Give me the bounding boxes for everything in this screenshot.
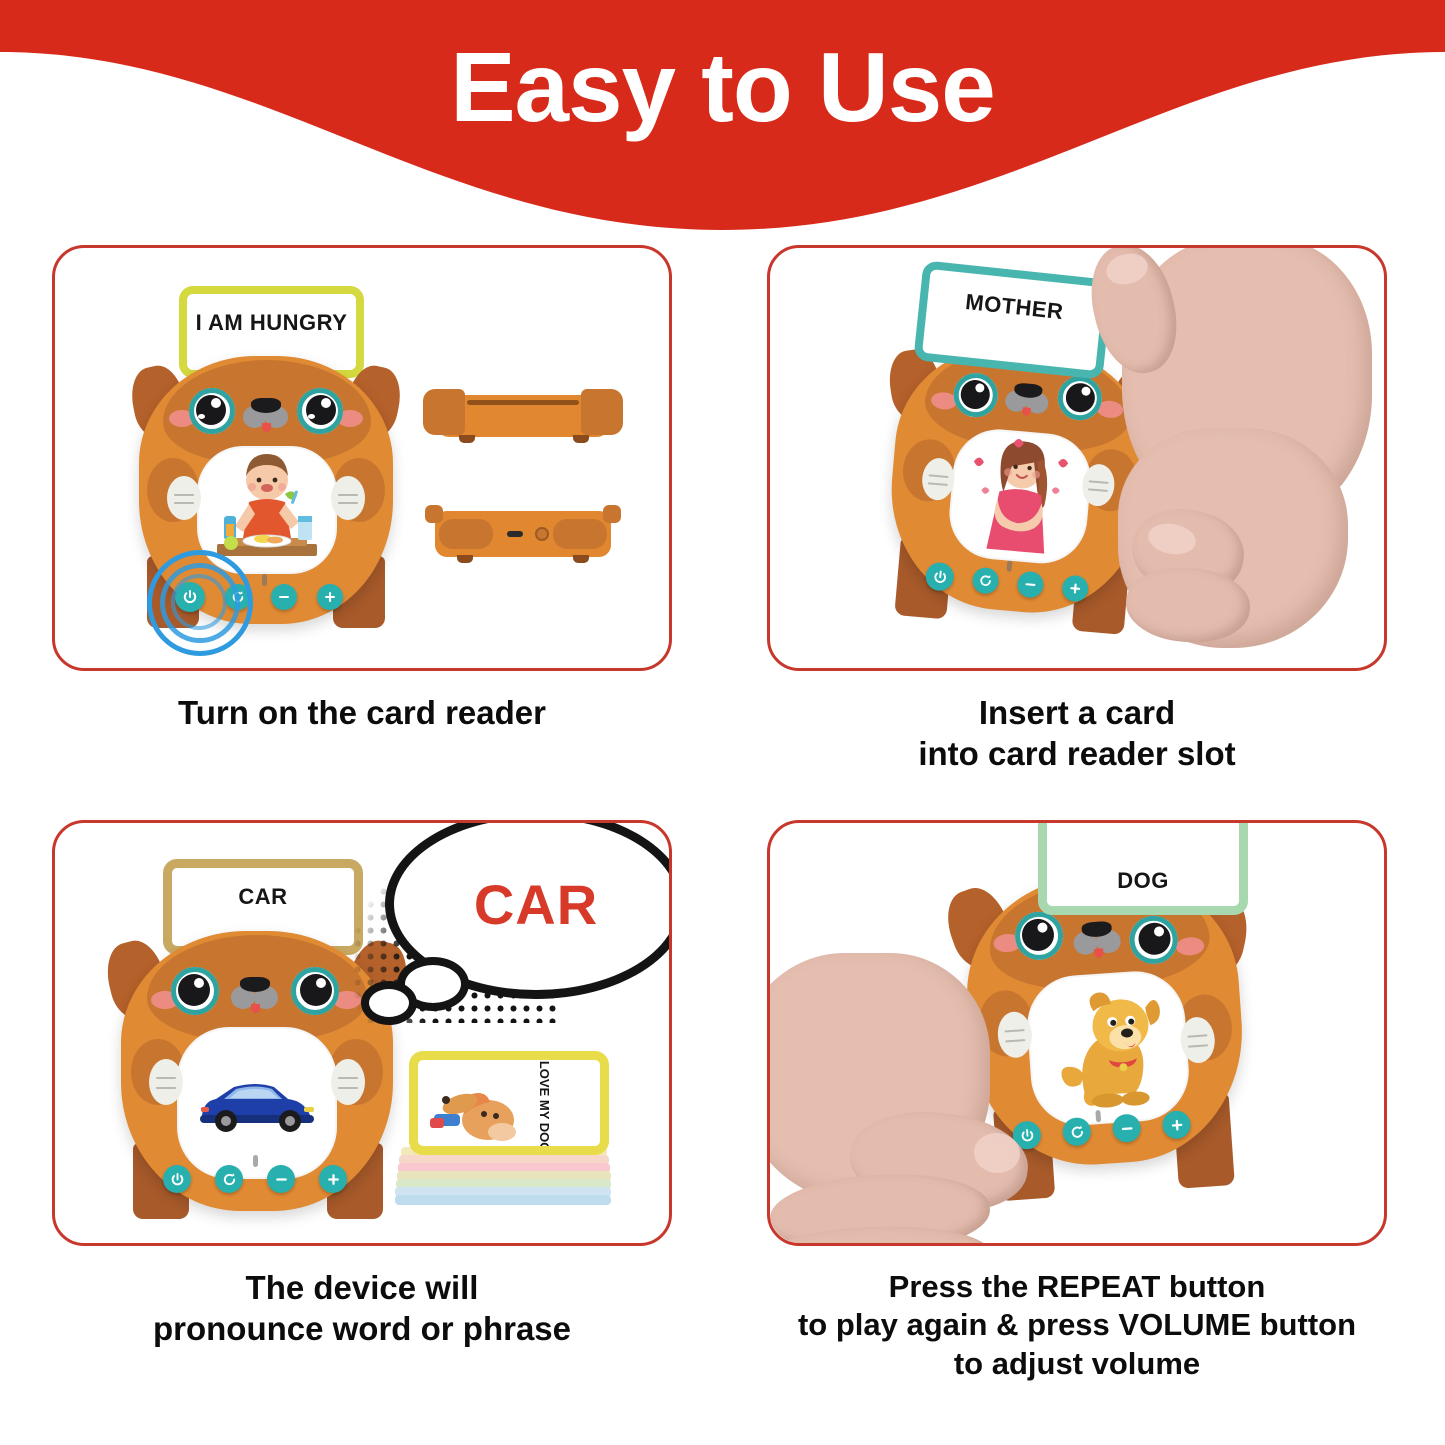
caption-step-3: The device will pronounce word or phrase <box>52 1268 672 1350</box>
left-paw <box>167 476 201 520</box>
step-panel-insert-card: MOTHER <box>767 245 1437 845</box>
speech-bubble-tail-2 <box>361 981 417 1025</box>
left-eye <box>189 388 235 434</box>
power-button[interactable] <box>925 561 955 591</box>
right-paw <box>331 1059 365 1105</box>
flash-card-label: CAR <box>238 884 287 910</box>
power-button[interactable] <box>163 1165 191 1193</box>
device-top-edge-view <box>423 385 623 451</box>
right-paw <box>331 476 365 520</box>
button-row <box>163 1165 347 1193</box>
repeat-button[interactable] <box>972 567 1000 595</box>
power-ripple-inner <box>171 574 227 630</box>
flash-card-label: MOTHER <box>964 289 1065 325</box>
stack-top-card[interactable]: I LOVE MY DOG <box>409 1051 609 1155</box>
caption-line: into card reader slot <box>767 734 1387 775</box>
stack-card-art <box>426 1074 536 1148</box>
stack-card-label: I LOVE MY DOG <box>537 1054 552 1153</box>
step-panel-turn-on: I AM HUNGRY <box>52 245 722 845</box>
flash-card-label: I AM HUNGRY <box>196 310 348 336</box>
device-bottom-edge-view <box>423 503 623 573</box>
panel-frame-3: CAR <box>52 820 672 1246</box>
audio-jack-icon <box>535 527 549 541</box>
panel-frame-1: I AM HUNGRY <box>52 245 672 671</box>
volume-down-button[interactable] <box>1112 1113 1142 1143</box>
page-title: Easy to Use <box>0 34 1445 142</box>
caption-line: pronounce word or phrase <box>52 1309 672 1350</box>
caption-step-2: Insert a card into card reader slot <box>767 693 1387 775</box>
caption-line: to play again & press VOLUME button <box>767 1306 1387 1344</box>
left-paw <box>149 1059 183 1105</box>
left-eye <box>171 967 219 1015</box>
muzzle <box>243 396 289 432</box>
volume-down-button[interactable] <box>1016 571 1044 599</box>
hand-holding-device <box>770 943 1090 1243</box>
caption-line: Insert a card <box>767 693 1387 734</box>
panel-frame-2: MOTHER <box>767 245 1387 671</box>
caption-line: Press the REPEAT button <box>767 1268 1387 1306</box>
caption-line: to adjust volume <box>767 1345 1387 1383</box>
caption-step-1: Turn on the card reader <box>52 693 672 734</box>
caption-line: Turn on the card reader <box>52 693 672 734</box>
caption-step-4: Press the REPEAT button to play again & … <box>767 1268 1387 1383</box>
card-reader-device-1[interactable] <box>125 338 425 648</box>
volume-up-button[interactable] <box>317 584 343 610</box>
volume-up-button[interactable] <box>319 1165 347 1193</box>
header-banner: Easy to Use <box>0 0 1445 230</box>
flash-card-dog[interactable]: DOG <box>1038 823 1248 915</box>
speech-bubble-text: CAR <box>474 872 598 937</box>
repeat-button[interactable] <box>215 1165 243 1193</box>
right-eye <box>297 388 343 434</box>
volume-down-button[interactable] <box>267 1165 295 1193</box>
speech-bubble-group: CAR <box>355 823 669 1025</box>
usb-port-icon <box>507 531 523 537</box>
hand-inserting-card <box>1070 248 1384 668</box>
panel-frame-4: DOG <box>767 820 1387 1246</box>
right-eye <box>291 967 339 1015</box>
flash-card-label: DOG <box>1117 868 1169 894</box>
step-panel-repeat-volume: DOG <box>767 820 1437 1420</box>
caption-line: The device will <box>52 1268 672 1309</box>
volume-up-button[interactable] <box>1162 1110 1192 1140</box>
flash-card-stack[interactable]: I LOVE MY DOG <box>395 1051 625 1221</box>
steps-grid: I AM HUNGRY <box>0 230 1445 1445</box>
volume-down-button[interactable] <box>271 584 297 610</box>
step-panel-pronounce: CAR <box>52 820 722 1420</box>
muzzle <box>1004 380 1051 418</box>
muzzle <box>231 975 279 1013</box>
